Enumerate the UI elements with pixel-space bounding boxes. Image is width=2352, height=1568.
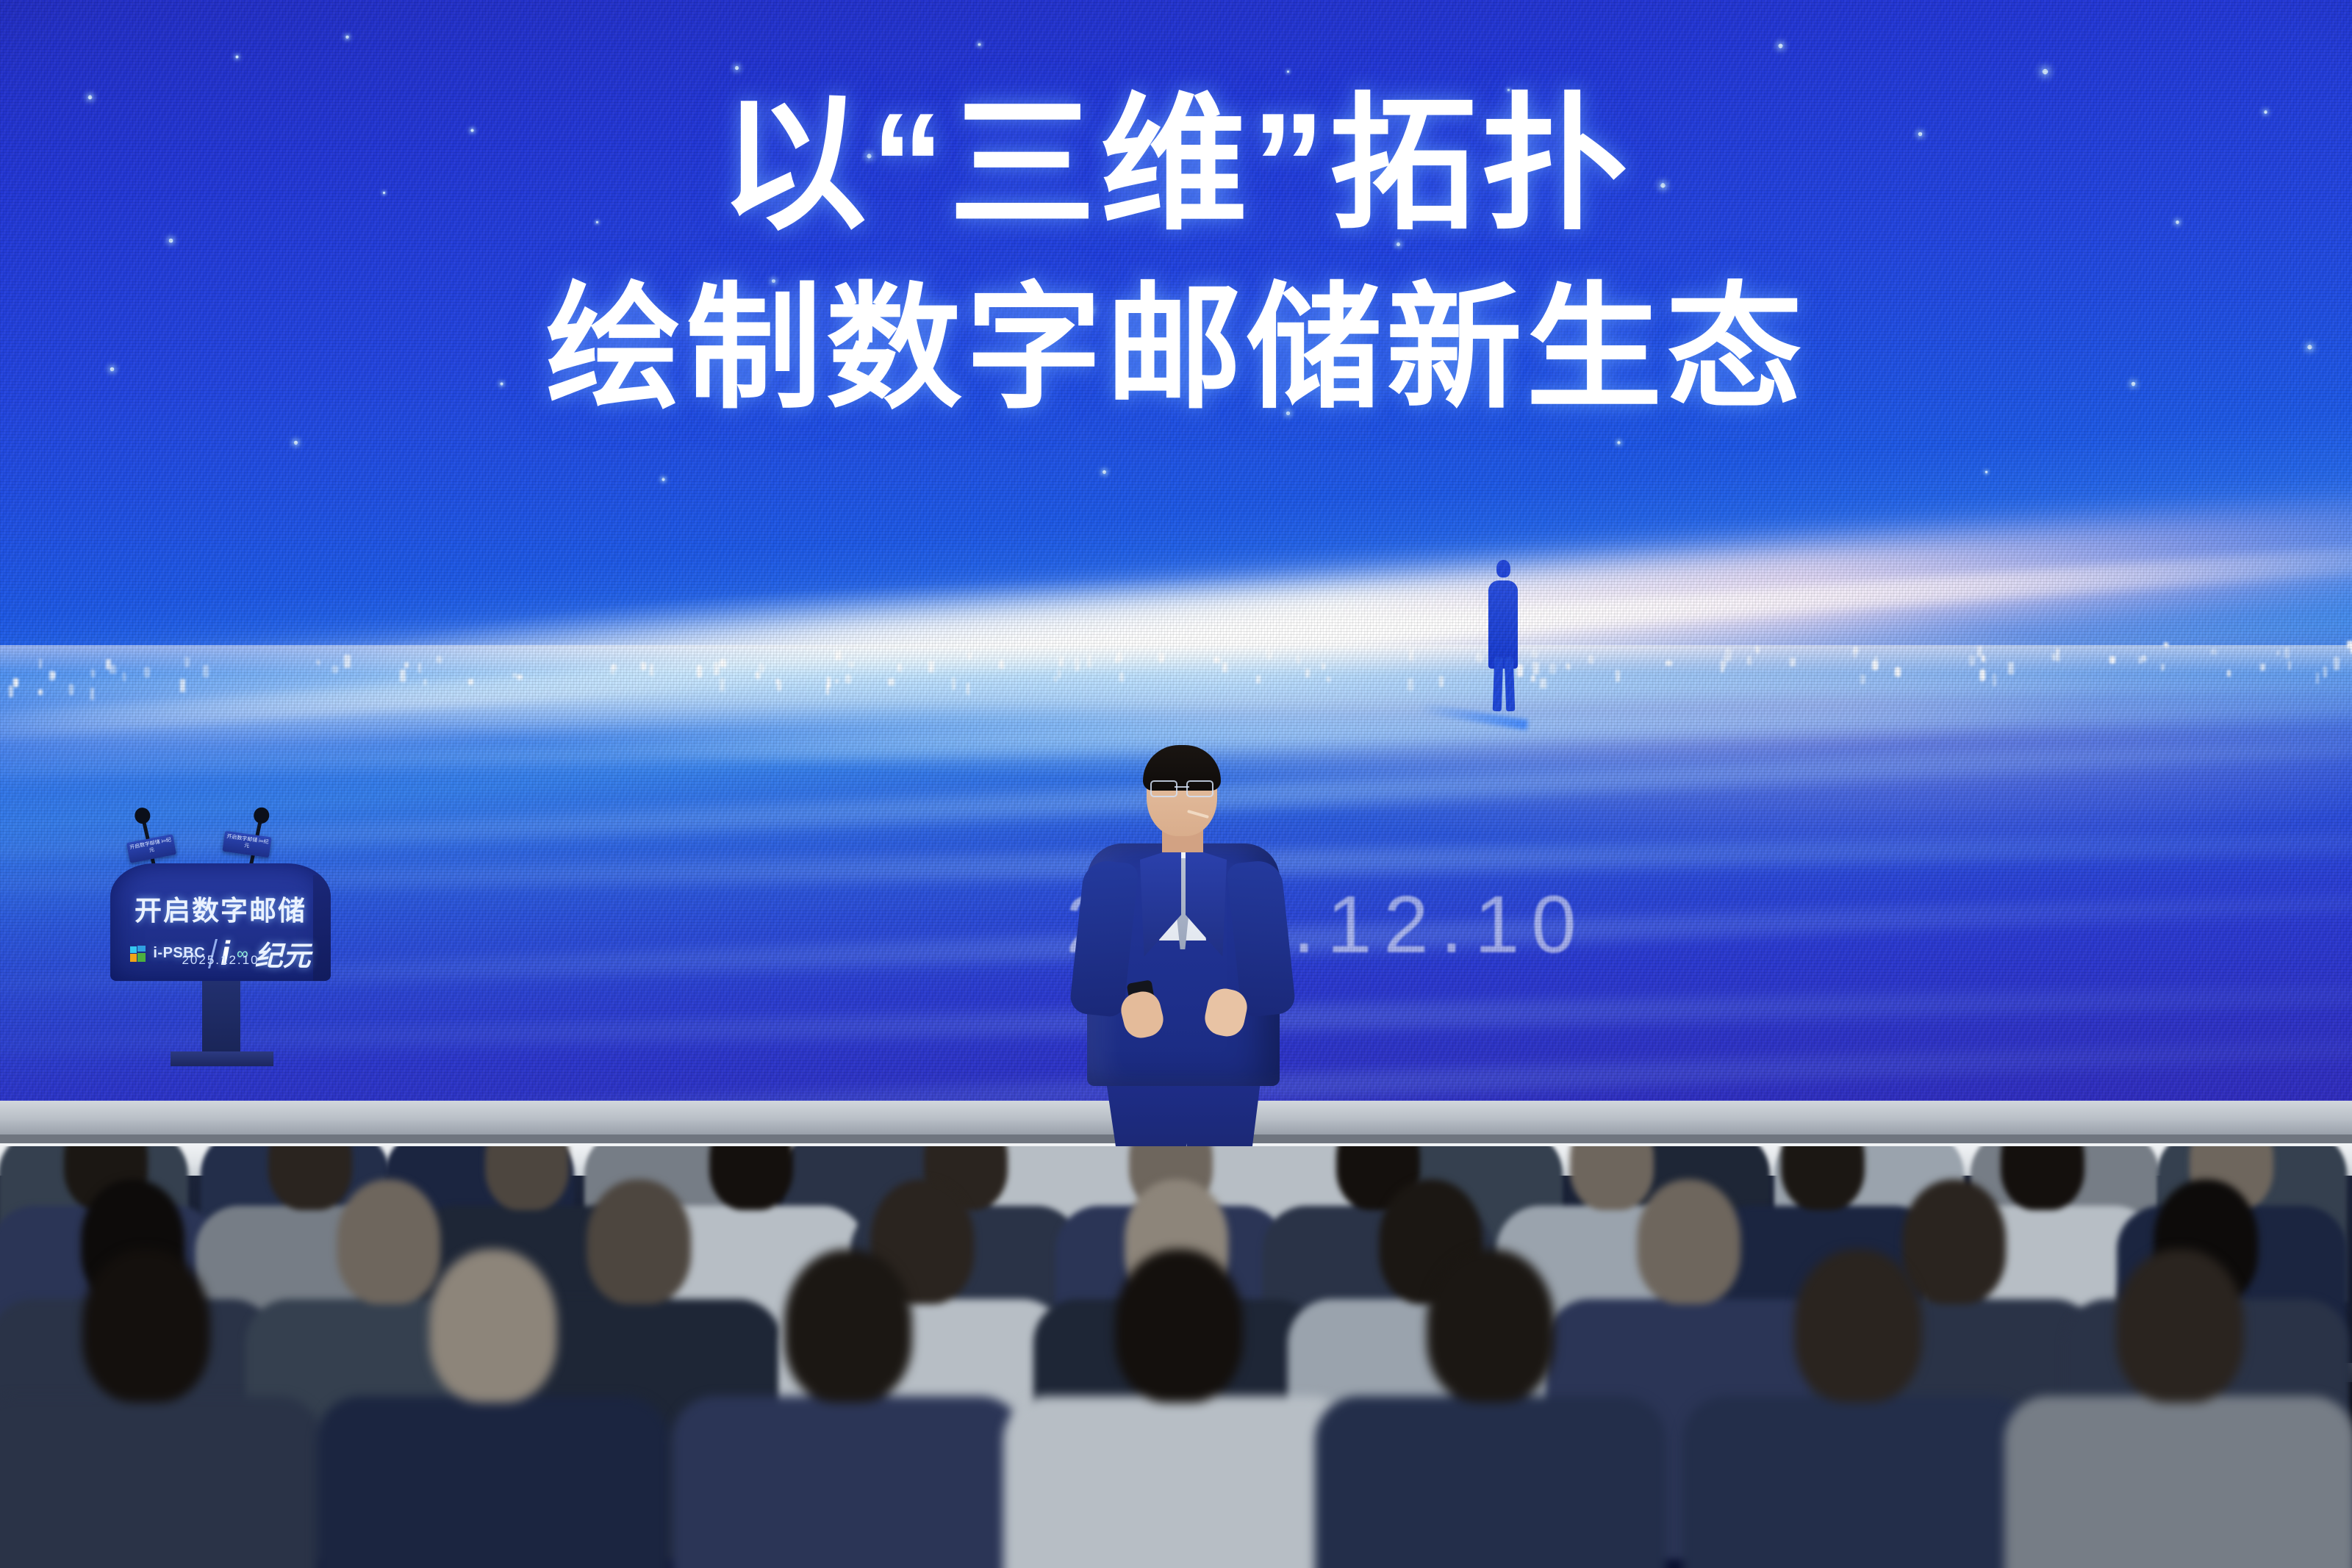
star-icon [169, 239, 173, 243]
star-icon [500, 382, 503, 385]
audience-head [1427, 1249, 1555, 1403]
audience-head [2116, 1249, 2244, 1403]
audience-shoulders [2004, 1396, 2352, 1568]
star-icon [1918, 132, 1922, 136]
star-icon [2043, 69, 2048, 74]
star-icon [1778, 43, 1782, 48]
star-icon [383, 192, 385, 194]
audience-member [317, 1249, 669, 1568]
conference-photo: 2025.12.10 以“三维”拓扑 绘制数字邮储新生态 开启数字邮储 i∞纪元… [0, 0, 2352, 1568]
star-icon [772, 279, 775, 283]
star-icon [596, 221, 598, 223]
audience-shoulders [317, 1396, 669, 1568]
audience-member [1003, 1249, 1355, 1568]
audience-shoulders [672, 1396, 1024, 1568]
headline-line-2: 绘制数字邮储新生态 [0, 267, 2352, 431]
star-icon [1102, 470, 1106, 474]
star-icon [2131, 382, 2136, 386]
podium-title: 开启数字邮储 [110, 888, 331, 928]
glasses-icon [1150, 780, 1213, 795]
star-icon [867, 154, 871, 158]
standing-person-silhouette-icon [1488, 580, 1518, 669]
audience [0, 1146, 2352, 1568]
audience-shoulders [1315, 1396, 1667, 1568]
star-icon [1183, 110, 1186, 113]
star-icon [294, 441, 298, 445]
audience-shoulders [0, 1396, 323, 1568]
audience-member [1315, 1249, 1667, 1568]
star-icon [2307, 345, 2312, 349]
audience-member [0, 1249, 323, 1568]
podium-base [171, 1051, 273, 1066]
star-icon [1660, 183, 1665, 187]
star-icon [110, 367, 115, 372]
podium-date: 2025.12.10 [110, 953, 331, 968]
star-icon [1287, 71, 1289, 73]
audience-head [1794, 1249, 1922, 1403]
star-icon [661, 478, 664, 481]
audience-shoulders [1682, 1396, 2034, 1568]
star-icon [2264, 110, 2267, 113]
star-icon [1985, 471, 1987, 473]
star-icon [345, 35, 348, 38]
star-icon [1507, 89, 1510, 91]
podium-column [202, 981, 240, 1051]
star-icon [1396, 242, 1400, 246]
podium-front-panel: 开启数字邮储 i-PSBC i ∞ 纪元 2025.12.10 [110, 863, 331, 981]
audience-shoulders [1003, 1396, 1355, 1568]
screen-headline: 以“三维”拓扑 绘制数字邮储新生态 [0, 81, 2352, 431]
podium: 开启数字邮储 i∞纪元 开启数字邮储 i∞纪元 开启数字邮储 i-PSBC i … [103, 863, 338, 981]
audience-member [672, 1249, 1024, 1568]
star-icon [88, 96, 93, 100]
star-icon [2176, 220, 2179, 224]
audience-head [429, 1249, 557, 1403]
headline-line-1: 以“三维”拓扑 [0, 81, 2352, 250]
audience-head [1115, 1249, 1243, 1403]
audience-member [1682, 1249, 2034, 1568]
star-icon [470, 129, 473, 132]
audience-member [2004, 1249, 2352, 1568]
star-icon [1087, 308, 1092, 313]
audience-head [82, 1249, 210, 1403]
star-icon [978, 43, 981, 46]
star-icon [235, 55, 238, 58]
audience-head [784, 1249, 912, 1403]
star-icon [1286, 411, 1290, 415]
star-icon [735, 66, 739, 70]
star-icon [1617, 441, 1620, 444]
